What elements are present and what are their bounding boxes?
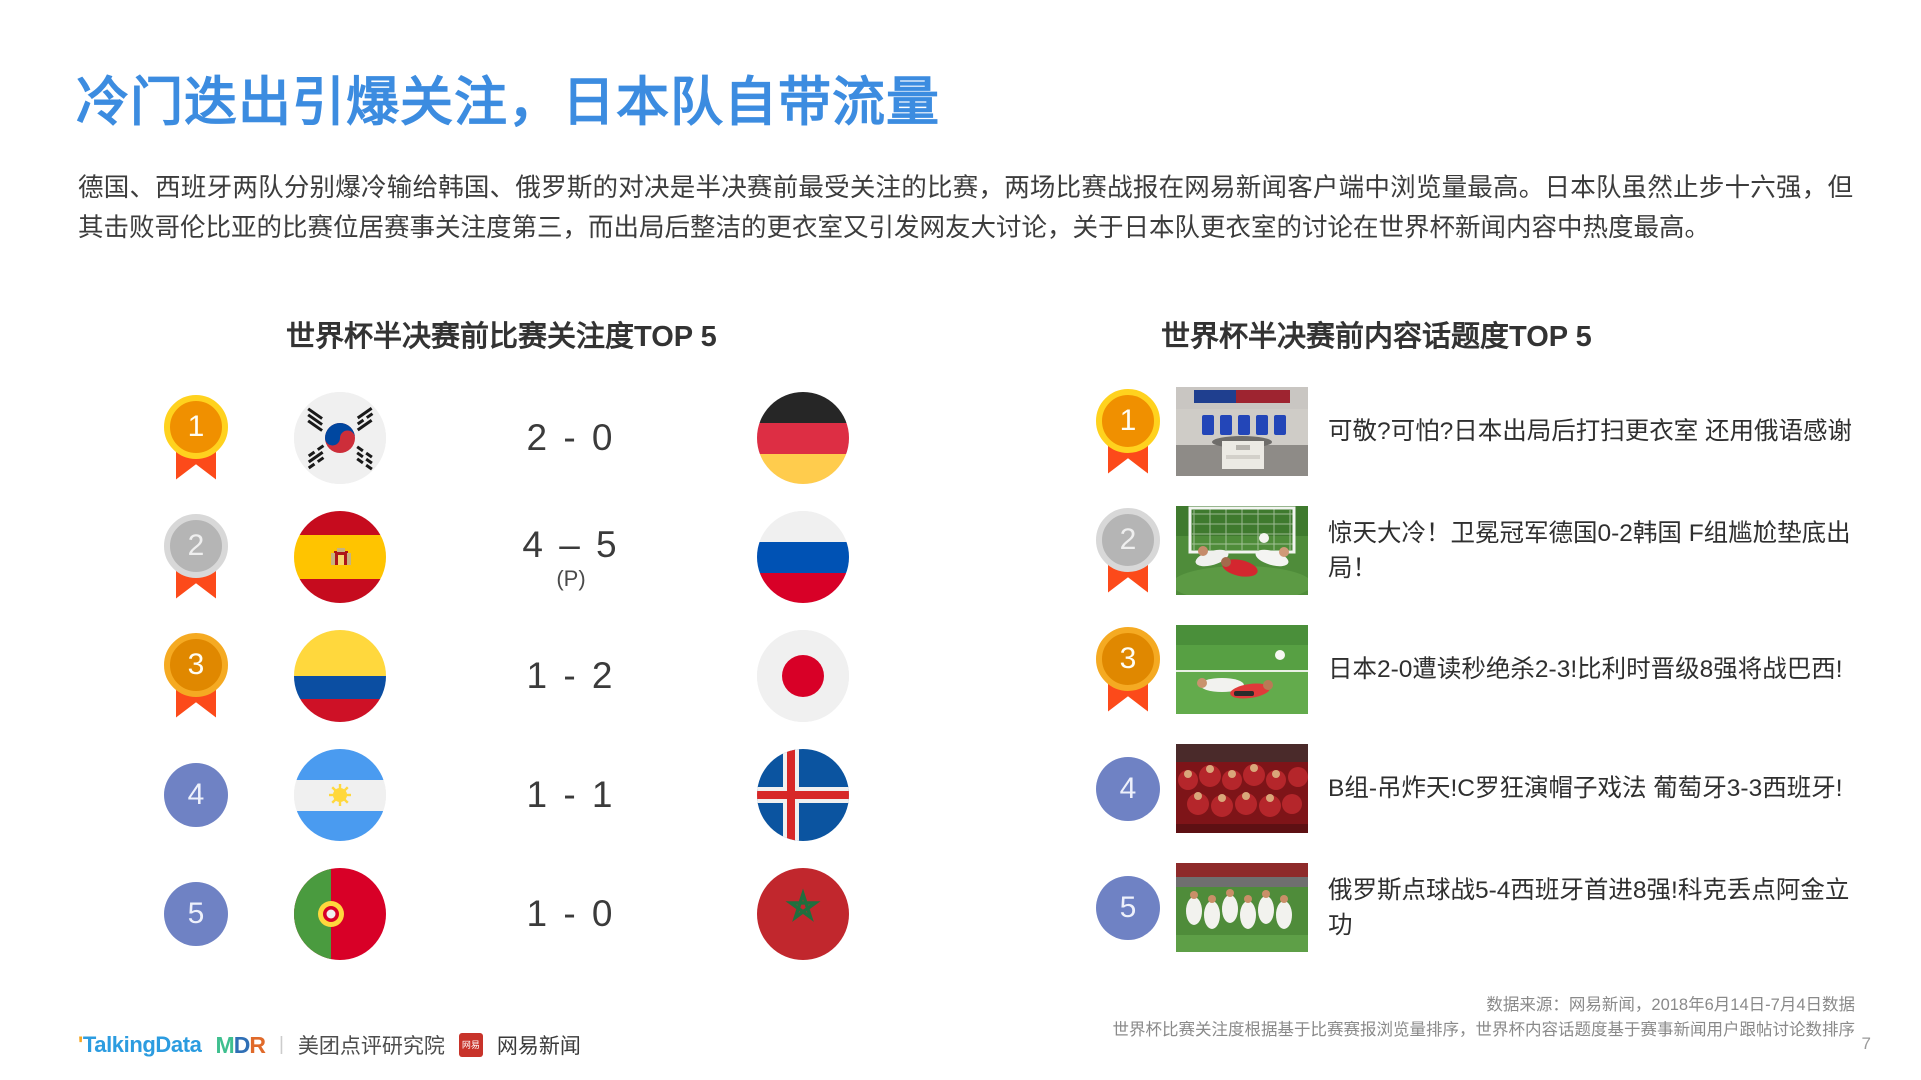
rank-cell: 4 bbox=[1080, 757, 1176, 821]
away-flag-cell bbox=[715, 630, 890, 722]
meituan-dianping-logo-text: 美团点评研究院 bbox=[298, 1030, 445, 1060]
japan-flag-icon bbox=[757, 630, 849, 722]
topic-title: 俄罗斯点球战5-4西班牙首进8强!科克丢点阿金立功 bbox=[1328, 873, 1870, 943]
rank-badge-plain: 4 bbox=[164, 763, 228, 827]
score-cell: 1 - 2 bbox=[427, 655, 715, 697]
score-cell: 4 – 5 (P) bbox=[427, 524, 715, 590]
topic-title: 日本2-0遭读秒绝杀2-3!比利时晋级8强将战巴西! bbox=[1328, 652, 1870, 687]
talkingdata-logo: 'TalkingData bbox=[78, 1032, 202, 1058]
rank-badge-plain: 5 bbox=[164, 882, 228, 946]
list-item[interactable]: 5 bbox=[1080, 848, 1870, 967]
match-score: 4 – 5 bbox=[522, 524, 619, 566]
rank-cell: 3 bbox=[140, 633, 252, 719]
rank-number: 5 bbox=[1120, 891, 1137, 925]
list-item[interactable]: 3 bbox=[1080, 610, 1870, 729]
medal-badge-silver: 2 bbox=[160, 514, 232, 600]
goal-save-photo-thumbnail[interactable] bbox=[1176, 506, 1308, 595]
mdr-logo: MDR bbox=[216, 1032, 265, 1059]
home-flag-cell bbox=[252, 749, 427, 841]
rank-cell: 3 bbox=[1080, 627, 1176, 713]
medal-badge-gold: 1 bbox=[1092, 389, 1164, 475]
table-row[interactable]: 5 1 - 0 bbox=[140, 854, 890, 973]
score-cell: 1 - 0 bbox=[427, 893, 715, 935]
germany-flag-icon bbox=[757, 392, 849, 484]
rank-number: 1 bbox=[1096, 389, 1160, 453]
score-note: (P) bbox=[556, 568, 585, 590]
match-score: 1 - 2 bbox=[526, 655, 615, 697]
argentina-flag-icon bbox=[294, 749, 386, 841]
rank-badge-plain: 5 bbox=[1096, 876, 1160, 940]
medal-badge-bronze: 3 bbox=[1092, 627, 1164, 713]
page-title: 冷门迭出引爆关注，日本队自带流量 bbox=[76, 60, 940, 136]
locker-room-photo-thumbnail[interactable] bbox=[1176, 387, 1308, 476]
intro-paragraph: 德国、西班牙两队分别爆冷输给韩国、俄罗斯的对决是半决赛前最受关注的比赛，两场比赛… bbox=[78, 168, 1853, 248]
source-note: 数据来源：网易新闻，2018年6月14日-7月4日数据 世界杯比赛关注度根据基于… bbox=[1113, 993, 1856, 1043]
rank-number: 2 bbox=[1096, 508, 1160, 572]
talkingdata-logo-text: TalkingData bbox=[83, 1032, 202, 1057]
score-cell: 1 - 1 bbox=[427, 774, 715, 816]
match-attention-list: 1 bbox=[140, 378, 890, 973]
match-score: 1 - 0 bbox=[526, 893, 615, 935]
spain-flag-icon bbox=[294, 511, 386, 603]
away-flag-cell bbox=[715, 868, 890, 960]
table-row[interactable]: 2 bbox=[140, 497, 890, 616]
netease-mark-icon: 网易 bbox=[459, 1033, 483, 1057]
home-flag-cell bbox=[252, 630, 427, 722]
home-flag-cell bbox=[252, 868, 427, 960]
rank-number: 5 bbox=[188, 897, 205, 931]
topic-title: 惊天大冷！卫冕冠军德国0-2韩国 F组尴尬垫底出局！ bbox=[1328, 516, 1870, 586]
iceland-flag-icon bbox=[757, 749, 849, 841]
medal-badge-silver: 2 bbox=[1092, 508, 1164, 594]
right-panel-title: 世界杯半决赛前内容话题度TOP 5 bbox=[1161, 313, 1592, 355]
list-item[interactable]: 4 bbox=[1080, 729, 1870, 848]
table-row[interactable]: 4 bbox=[140, 735, 890, 854]
rank-cell: 1 bbox=[140, 395, 252, 481]
south-korea-flag-icon bbox=[294, 392, 386, 484]
rank-badge-plain: 4 bbox=[1096, 757, 1160, 821]
rank-cell: 5 bbox=[140, 882, 252, 946]
rank-number: 1 bbox=[164, 395, 228, 459]
score-cell: 2 - 0 bbox=[427, 417, 715, 459]
netease-news-logo-text: 网易新闻 bbox=[497, 1030, 581, 1060]
rank-cell: 2 bbox=[1080, 508, 1176, 594]
russia-flag-icon bbox=[757, 511, 849, 603]
slide-root: 冷门迭出引爆关注，日本队自带流量 德国、西班牙两队分别爆冷输给韩国、俄罗斯的对决… bbox=[0, 0, 1921, 1080]
match-score: 2 - 0 bbox=[526, 417, 615, 459]
topic-attention-list: 1 bbox=[1080, 372, 1870, 967]
rank-number: 3 bbox=[164, 633, 228, 697]
rank-cell: 4 bbox=[140, 763, 252, 827]
rank-cell: 2 bbox=[140, 514, 252, 600]
source-line-2: 世界杯比赛关注度根据基于比赛赛报浏览量排序，世界杯内容话题度基于赛事新闻用户跟帖… bbox=[1113, 1018, 1856, 1043]
home-flag-cell bbox=[252, 511, 427, 603]
rank-cell: 5 bbox=[1080, 876, 1176, 940]
red-crowd-photo-thumbnail[interactable] bbox=[1176, 744, 1308, 833]
rank-number: 4 bbox=[1120, 772, 1137, 806]
logo-bar: 'TalkingData MDR | 美团点评研究院 网易 网易新闻 bbox=[78, 1030, 581, 1060]
source-line-1: 数据来源：网易新闻，2018年6月14日-7月4日数据 bbox=[1113, 993, 1856, 1018]
topic-title: B组-吊炸天!C罗狂演帽子戏法 葡萄牙3-3西班牙! bbox=[1328, 771, 1870, 806]
logo-divider: | bbox=[279, 1034, 284, 1056]
table-row[interactable]: 3 1 - 2 bbox=[140, 616, 890, 735]
topic-title: 可敬?可怕?日本出局后打扫更衣室 还用俄语感谢 bbox=[1328, 414, 1870, 449]
morocco-flag-icon bbox=[757, 868, 849, 960]
player-on-pitch-photo-thumbnail[interactable] bbox=[1176, 625, 1308, 714]
home-flag-cell bbox=[252, 392, 427, 484]
list-item[interactable]: 1 bbox=[1080, 372, 1870, 491]
medal-badge-bronze: 3 bbox=[160, 633, 232, 719]
left-panel-title: 世界杯半决赛前比赛关注度TOP 5 bbox=[286, 313, 717, 355]
away-flag-cell bbox=[715, 511, 890, 603]
colombia-flag-icon bbox=[294, 630, 386, 722]
list-item[interactable]: 2 bbox=[1080, 491, 1870, 610]
celebration-photo-thumbnail[interactable] bbox=[1176, 863, 1308, 952]
medal-badge-gold: 1 bbox=[160, 395, 232, 481]
page-number: 7 bbox=[1862, 1034, 1871, 1054]
match-score: 1 - 1 bbox=[526, 774, 615, 816]
away-flag-cell bbox=[715, 392, 890, 484]
rank-number: 2 bbox=[164, 514, 228, 578]
table-row[interactable]: 1 bbox=[140, 378, 890, 497]
away-flag-cell bbox=[715, 749, 890, 841]
rank-number: 3 bbox=[1096, 627, 1160, 691]
rank-cell: 1 bbox=[1080, 389, 1176, 475]
rank-number: 4 bbox=[188, 778, 205, 812]
portugal-flag-icon bbox=[294, 868, 386, 960]
